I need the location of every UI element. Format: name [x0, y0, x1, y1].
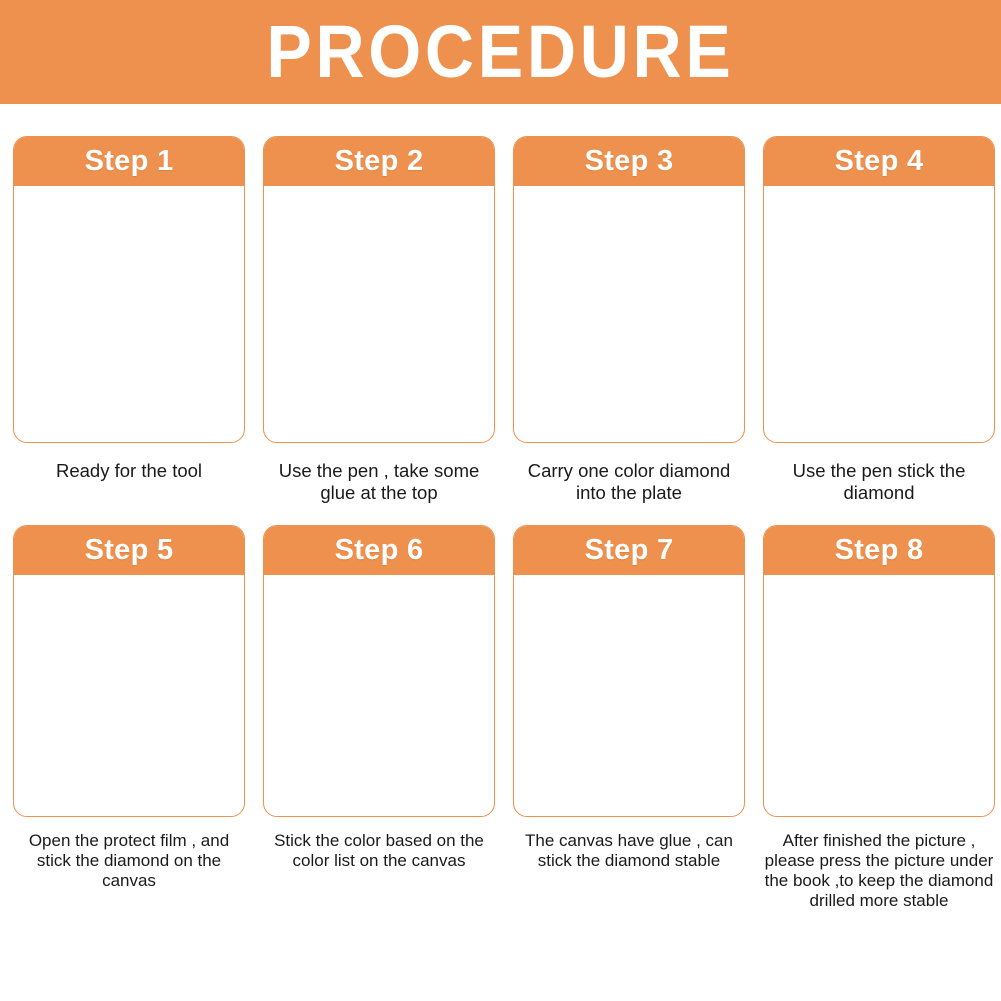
step-6-frame: Step 6 No. Symbol	[263, 525, 495, 817]
step-5-badge: Step 5	[14, 526, 244, 575]
step-8-badge: Step 8	[764, 526, 994, 575]
step-8-badge-label: Step 8	[835, 536, 924, 565]
header-banner: PROCEDURE	[0, 0, 1001, 104]
step-2-badge: Step 2	[264, 137, 494, 186]
step-7-badge-label: Step 7	[585, 536, 674, 565]
step-6-caption: Stick the color based on the color list …	[263, 831, 495, 871]
step-4-frame: Step 4	[763, 136, 995, 443]
step-6-badge-label: Step 6	[335, 536, 424, 565]
step-1-badge: Step 1	[14, 137, 244, 186]
step-3-frame: Step 3	[513, 136, 745, 443]
step-4-badge-label: Step 4	[835, 147, 924, 176]
step-5-frame: Step 5	[13, 525, 245, 817]
page-title: PROCEDURE	[266, 15, 734, 89]
step-3-caption: Carry one color diamond into the plate	[513, 460, 745, 504]
step-5-caption: Open the protect film , and stick the di…	[13, 831, 245, 891]
step-1-badge-label: Step 1	[85, 147, 174, 176]
step-card-8: Step 8	[763, 525, 995, 911]
step-4-caption: Use the pen stick the diamond	[763, 460, 995, 504]
steps-row-2: Step 5 Open the protect film , and stick…	[0, 504, 1001, 911]
step-card-7: Step 7 The canvas have glue , can stick …	[513, 525, 745, 911]
step-4-badge: Step 4	[764, 137, 994, 186]
steps-row-1: Step 1 Ready for the tool	[0, 104, 1001, 504]
step-7-badge: Step 7	[514, 526, 744, 575]
step-2-caption: Use the pen , take some glue at the top	[263, 460, 495, 504]
step-1-caption: Ready for the tool	[13, 460, 245, 482]
step-1-frame: Step 1	[13, 136, 245, 443]
step-5-badge-label: Step 5	[85, 536, 174, 565]
procedure-infographic: PROCEDURE Step 1	[0, 0, 1001, 1001]
step-2-badge-label: Step 2	[335, 147, 424, 176]
step-card-3: Step 3 Carry one color diamond int	[513, 136, 745, 504]
step-card-2: Step 2	[263, 136, 495, 504]
step-3-badge-label: Step 3	[585, 147, 674, 176]
step-3-badge: Step 3	[514, 137, 744, 186]
step-card-1: Step 1 Ready for the tool	[13, 136, 245, 504]
step-card-4: Step 4	[763, 136, 995, 504]
step-7-frame: Step 7	[513, 525, 745, 817]
step-8-caption: After finished the picture , please pres…	[763, 831, 995, 911]
step-card-5: Step 5 Open the protect film , and stick…	[13, 525, 245, 911]
step-7-caption: The canvas have glue , can stick the dia…	[513, 831, 745, 871]
step-6-badge: Step 6	[264, 526, 494, 575]
step-2-frame: Step 2	[263, 136, 495, 443]
step-8-frame: Step 8	[763, 525, 995, 817]
step-card-6: Step 6 No. Symbol	[263, 525, 495, 911]
steps-grid: Step 1 Ready for the tool	[0, 104, 1001, 911]
